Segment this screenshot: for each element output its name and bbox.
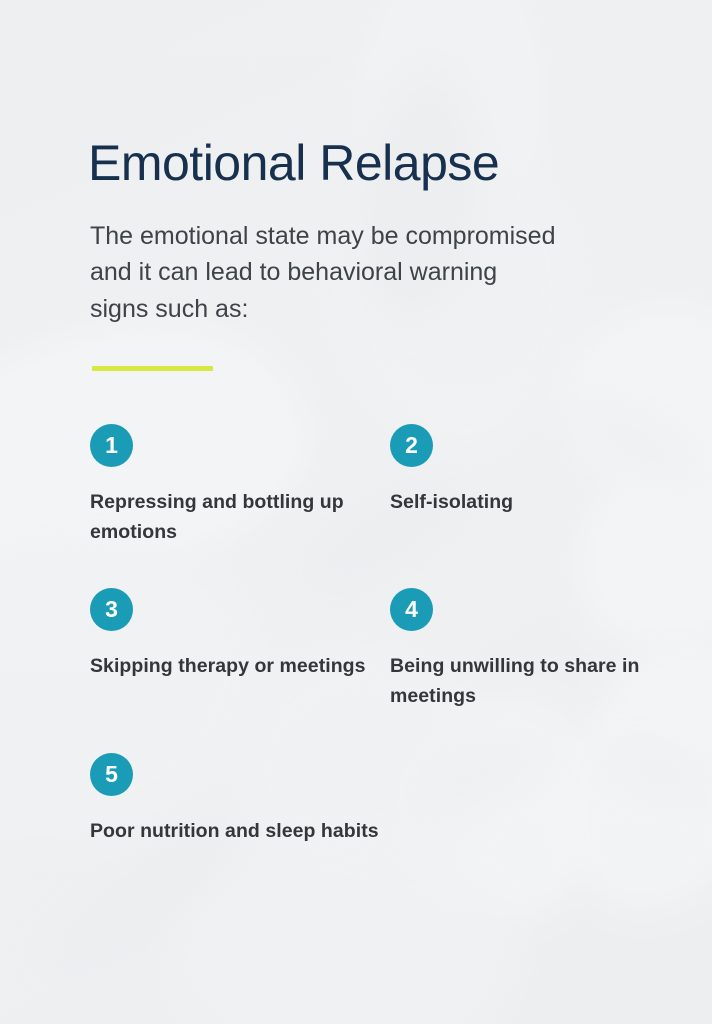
list-item-label: Being unwilling to share in meetings <box>390 651 680 711</box>
warning-signs-list: 1 Repressing and bottling up emotions 2 … <box>0 0 712 1024</box>
list-item: 4 Being unwilling to share in meetings <box>390 588 680 711</box>
item-number-badge: 4 <box>390 588 433 631</box>
list-item-label: Poor nutrition and sleep habits <box>90 816 380 846</box>
poster-content: Emotional Relapse The emotional state ma… <box>0 0 712 1024</box>
list-item: 5 Poor nutrition and sleep habits <box>90 753 380 846</box>
list-item: 3 Skipping therapy or meetings <box>90 588 380 681</box>
list-item-label: Self-isolating <box>390 487 680 517</box>
item-number-badge: 2 <box>390 424 433 467</box>
list-item: 1 Repressing and bottling up emotions <box>90 424 380 547</box>
emotional-relapse-infographic: Emotional Relapse The emotional state ma… <box>0 0 712 1024</box>
item-number-badge: 1 <box>90 424 133 467</box>
item-number-badge: 5 <box>90 753 133 796</box>
list-item: 2 Self-isolating <box>390 424 680 517</box>
list-item-label: Skipping therapy or meetings <box>90 651 380 681</box>
item-number-badge: 3 <box>90 588 133 631</box>
list-item-label: Repressing and bottling up emotions <box>90 487 380 547</box>
